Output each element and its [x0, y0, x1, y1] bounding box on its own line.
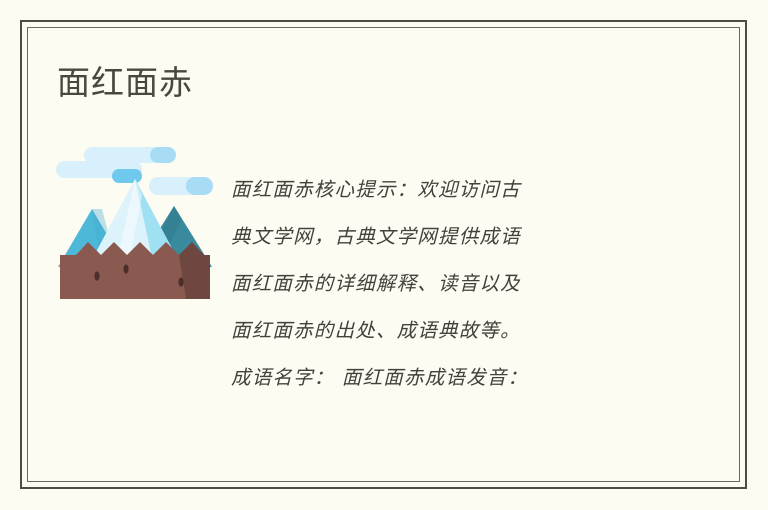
body-text-line: 面红面赤的详细解释、读音以及	[231, 260, 661, 307]
rock-speckle	[94, 271, 99, 280]
body-text: 面红面赤核心提示：欢迎访问古 典文学网，古典文学网提供成语 面红面赤的详细解释、…	[231, 166, 661, 401]
body-text-line: 典文学网，古典文学网提供成语	[231, 213, 661, 260]
rock-speckle	[178, 277, 183, 286]
rock-speckle	[123, 264, 128, 273]
page-title: 面红面赤	[57, 61, 193, 105]
body-text-line: 面红面赤核心提示：欢迎访问古	[231, 166, 661, 213]
body-text-line: 成语名字： 面红面赤成语发音：	[231, 354, 661, 401]
snowy-mountain-illustration	[54, 143, 216, 307]
body-text-line: 面红面赤的出处、成语典故等。	[231, 307, 661, 354]
page-root: 面红面赤	[0, 0, 768, 510]
